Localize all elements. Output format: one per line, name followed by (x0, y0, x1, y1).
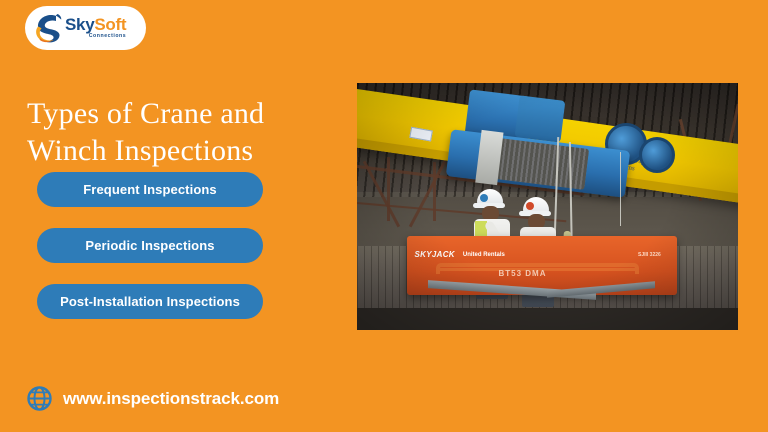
brand-wordmark: Sky Soft Connections (65, 16, 126, 39)
brand-name-primary: Sky (65, 16, 94, 33)
website-url-text: www.inspectionstrack.com (63, 389, 279, 409)
page-title-line-2: Winch Inspections (27, 133, 327, 170)
globe-icon (26, 385, 53, 412)
button-frequent-inspections[interactable]: Frequent Inspections (37, 172, 263, 207)
button-post-installation-inspections[interactable]: Post-Installation Inspections (37, 284, 263, 319)
brand-name-secondary: Soft (94, 16, 126, 33)
photo-vignette (357, 83, 738, 330)
skysoft-swoosh-icon (33, 12, 63, 44)
brand-logo-badge: Sky Soft Connections (25, 6, 146, 50)
footer-website[interactable]: www.inspectionstrack.com (26, 385, 279, 412)
crane-inspection-photo: CR Crane Runway Systems (357, 83, 738, 330)
button-periodic-inspections[interactable]: Periodic Inspections (37, 228, 263, 263)
brand-tagline: Connections (65, 34, 126, 39)
page-title-line-1: Types of Crane and (27, 96, 327, 133)
inspection-type-list: Frequent Inspections Periodic Inspection… (37, 172, 263, 340)
page-title: Types of Crane and Winch Inspections (27, 96, 327, 169)
